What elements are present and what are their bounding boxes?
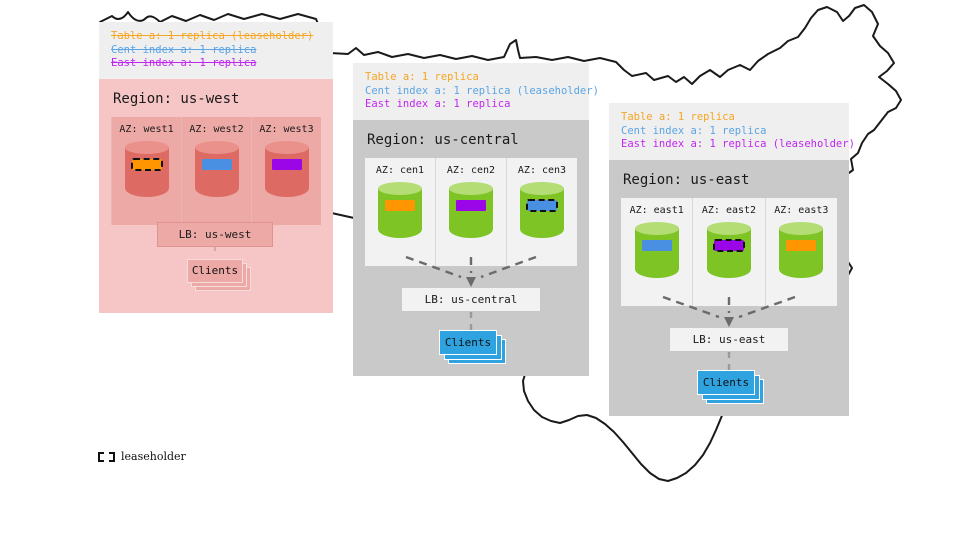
region-title: Region: us-west [99,79,333,117]
cylinder-top [265,141,309,154]
cylinder-body [265,147,309,197]
replica-line-table: Table a: 1 replica (leaseholder) [111,30,323,44]
region-replica-legend: Table a: 1 replica (leaseholder) Cent in… [99,22,333,79]
range-chunk-table[interactable] [385,200,415,211]
load-balancer-us-east[interactable]: LB: us-east [669,327,789,352]
cylinder-body [195,147,239,197]
node-cylinder[interactable] [449,182,493,244]
region-us-west[interactable]: Table a: 1 replica (leaseholder) Cent in… [99,22,333,313]
az-east3[interactable]: AZ: east3 [765,198,837,306]
az-label: AZ: cen1 [376,165,424,176]
cylinder-body [520,188,564,238]
clients-us-central[interactable]: Clients [439,330,509,366]
az-cen3[interactable]: AZ: cen3 [506,158,577,266]
az-strip: AZ: east1 AZ: east2 AZ [621,198,837,306]
region-body: Region: us-central AZ: cen1 AZ: cen2 [353,120,589,376]
diagram-canvas: Table a: 1 replica (leaseholder) Cent in… [0,0,960,540]
range-chunk-cent-index[interactable] [202,159,232,170]
lb-arrowhead [466,277,476,287]
az-west2[interactable]: AZ: west2 [181,117,251,225]
cylinder-top [520,182,564,195]
az-cen1[interactable]: AZ: cen1 [365,158,435,266]
replica-line-cent-index: Cent index a: 1 replica [111,44,323,58]
cylinder-body [378,188,422,238]
region-replica-legend: Table a: 1 replica Cent index a: 1 repli… [353,63,589,120]
az-label: AZ: west2 [189,124,243,135]
replica-line-east-index: East index a: 1 replica (leaseholder) [621,138,839,152]
az-strip: AZ: cen1 AZ: cen2 AZ: [365,158,577,266]
range-chunk-cent-index[interactable] [642,240,672,251]
dashed-rectangle-icon [98,452,115,462]
region-us-east[interactable]: Table a: 1 replica Cent index a: 1 repli… [609,103,849,416]
region-body: Region: us-east AZ: east1 AZ: east2 [609,160,849,416]
replica-line-cent-index: Cent index a: 1 replica (leaseholder) [365,85,579,99]
cylinder-top [449,182,493,195]
load-balancer-us-west[interactable]: LB: us-west [157,222,273,247]
node-cylinder[interactable] [779,222,823,284]
load-balancer-us-central[interactable]: LB: us-central [401,287,541,312]
az-label: AZ: cen2 [447,165,495,176]
node-cylinder[interactable] [635,222,679,284]
cylinder-top [707,222,751,235]
cylinder-top [779,222,823,235]
cylinder-top [378,182,422,195]
clients-us-east[interactable]: Clients [697,370,767,406]
replica-line-table: Table a: 1 replica [621,111,839,125]
az-label: AZ: east1 [630,205,684,216]
az-label: AZ: west3 [259,124,313,135]
clients-card-front[interactable]: Clients [697,370,755,395]
clients-us-west[interactable]: Clients [187,259,251,293]
cylinder-body [449,188,493,238]
region-title: Region: us-east [609,160,849,198]
az-label: AZ: east2 [702,205,756,216]
az-label: AZ: cen3 [518,165,566,176]
range-chunk-cent-index-leaseholder[interactable] [527,200,557,211]
az-strip: AZ: west1 AZ: west2 AZ [111,117,321,225]
region-replica-legend: Table a: 1 replica Cent index a: 1 repli… [609,103,849,160]
node-cylinder[interactable] [265,141,309,203]
range-chunk-table-leaseholder[interactable] [132,159,162,170]
cylinder-body [635,228,679,278]
cylinder-top [195,141,239,154]
range-chunk-east-index-leaseholder[interactable] [714,240,744,251]
cylinder-top [635,222,679,235]
clients-card-front[interactable]: Clients [439,330,497,355]
replica-line-east-index: East index a: 1 replica [111,57,323,71]
node-cylinder[interactable] [195,141,239,203]
region-title: Region: us-central [353,120,589,158]
region-us-central[interactable]: Table a: 1 replica Cent index a: 1 repli… [353,63,589,376]
range-chunk-east-index[interactable] [272,159,302,170]
az-label: AZ: west1 [119,124,173,135]
clients-card-front[interactable]: Clients [187,259,243,283]
az-east2[interactable]: AZ: east2 [692,198,764,306]
cylinder-body [125,147,169,197]
cylinder-body [779,228,823,278]
cylinder-body [707,228,751,278]
replica-line-east-index: East index a: 1 replica [365,98,579,112]
leaseholder-legend: leaseholder [98,450,186,463]
node-cylinder[interactable] [378,182,422,244]
az-east1[interactable]: AZ: east1 [621,198,692,306]
node-cylinder[interactable] [125,141,169,203]
range-chunk-east-index[interactable] [456,200,486,211]
node-cylinder[interactable] [520,182,564,244]
az-west1[interactable]: AZ: west1 [111,117,181,225]
az-west3[interactable]: AZ: west3 [251,117,321,225]
range-chunk-table[interactable] [786,240,816,251]
replica-line-table: Table a: 1 replica [365,71,579,85]
cylinder-top [125,141,169,154]
az-cen2[interactable]: AZ: cen2 [435,158,506,266]
lb-arrowhead [724,317,734,327]
az-label: AZ: east3 [774,205,828,216]
region-body: Region: us-west AZ: west1 AZ: west2 [99,79,333,313]
node-cylinder[interactable] [707,222,751,284]
leaseholder-legend-label: leaseholder [121,450,186,463]
replica-line-cent-index: Cent index a: 1 replica [621,125,839,139]
